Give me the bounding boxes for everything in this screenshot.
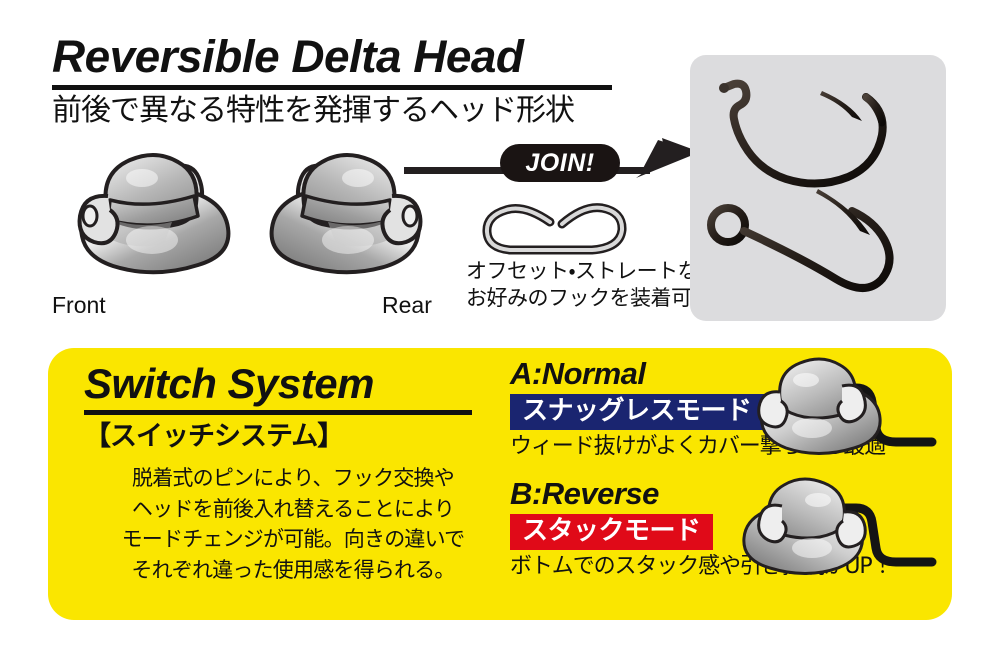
mode-badge-normal: スナッグレスモード bbox=[510, 394, 764, 430]
page-title: Reversible Delta Head bbox=[52, 34, 684, 79]
join-badge-label: JOIN! bbox=[525, 151, 594, 176]
head-figures: Front Rear bbox=[52, 142, 452, 327]
infographic-canvas: Reversible Delta Head 前後で異なる特性を発揮するヘッド形状 bbox=[0, 0, 1000, 667]
snap-clip-icon bbox=[480, 196, 630, 258]
join-arrow: JOIN! bbox=[404, 138, 704, 194]
switch-system-title-jp: 【スイッチシステム】 bbox=[84, 421, 502, 453]
hook-panel bbox=[690, 55, 946, 321]
switch-system-body: 脱着式のピンにより、フック交換や ヘッドを前後入れ替えることにより モードチェン… bbox=[84, 463, 502, 585]
page-subtitle: 前後で異なる特性を発揮するヘッド形状 bbox=[52, 94, 672, 129]
switch-body-line-1: 脱着式のピンにより、フック交換や bbox=[84, 463, 502, 493]
switch-body-line-2: ヘッドを前後入れ替えることにより bbox=[84, 494, 502, 524]
mode-badge-reverse: スタックモード bbox=[510, 514, 713, 550]
title-block: Reversible Delta Head 前後で異なる特性を発揮するヘッド形状 bbox=[52, 34, 672, 129]
head-label-rear: Rear bbox=[382, 292, 432, 319]
switch-system-title: Switch System bbox=[84, 362, 502, 406]
straight-hook-icon bbox=[711, 189, 890, 288]
mode-block-reverse: B:Reverse スタックモード ボトムでのスタック感や引き抵抗がUP！ bbox=[510, 478, 940, 579]
head-label-front: Front bbox=[52, 292, 106, 319]
switch-body-line-3: モードチェンジが可能。向きの違いで bbox=[84, 524, 502, 554]
join-badge: JOIN! bbox=[500, 144, 620, 182]
switch-title-underline bbox=[84, 410, 472, 415]
sinker-head-normal-with-hook-icon bbox=[746, 354, 946, 464]
sinker-head-reverse-with-hook-icon bbox=[746, 474, 946, 584]
title-underline bbox=[52, 85, 612, 90]
switch-body-line-4: それぞれ違った使用感を得られる。 bbox=[84, 555, 502, 585]
offset-worm-hook-icon bbox=[719, 83, 883, 184]
switch-system-panel: Switch System 【スイッチシステム】 脱着式のピンにより、フック交換… bbox=[48, 348, 952, 620]
sinker-head-front-icon bbox=[60, 142, 250, 292]
mode-block-normal: A:Normal スナッグレスモード ウィード抜けがよくカバー撃ちにも最適 bbox=[510, 358, 940, 459]
switch-system-description: Switch System 【スイッチシステム】 脱着式のピンにより、フック交換… bbox=[84, 362, 502, 585]
